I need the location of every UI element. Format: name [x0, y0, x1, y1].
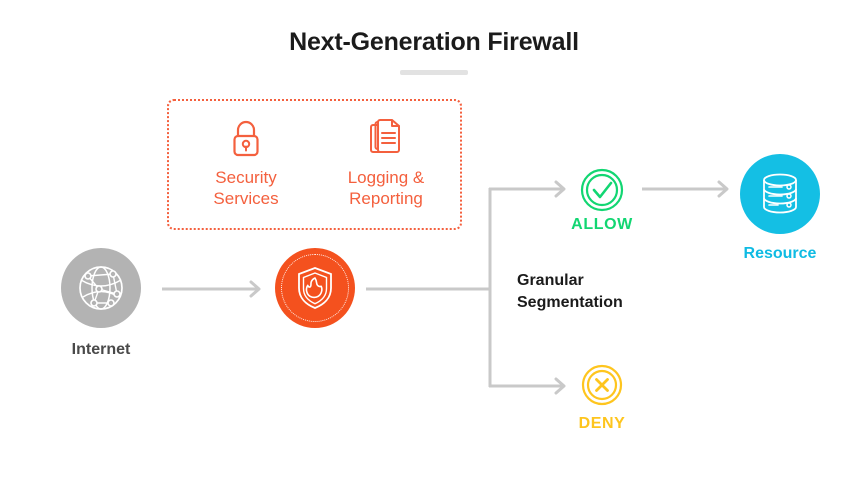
- node-internet[interactable]: [61, 248, 141, 328]
- document-stack-icon: [321, 117, 451, 161]
- service-item-security[interactable]: Security Services: [181, 117, 311, 209]
- node-label-internet: Internet: [21, 341, 181, 359]
- x-circle-icon[interactable]: [581, 364, 623, 406]
- check-circle-icon[interactable]: [580, 168, 624, 212]
- title-underline-rule: [400, 70, 468, 75]
- service-label-logging: Logging & Reporting: [321, 167, 451, 209]
- node-label-deny: DENY: [522, 415, 682, 433]
- granular-segmentation-caption: Granular Segmentation: [517, 270, 737, 314]
- node-resource[interactable]: [740, 154, 820, 234]
- page-title: Next-Generation Firewall: [0, 28, 868, 57]
- database-icon: [756, 170, 804, 218]
- diagram-canvas: Next-Generation Firewall: [0, 0, 868, 488]
- service-label-security: Security Services: [181, 167, 311, 209]
- service-item-logging[interactable]: Logging & Reporting: [321, 117, 451, 209]
- node-label-resource: Resource: [700, 245, 860, 263]
- globe-network-icon: [75, 262, 127, 314]
- shield-flame-icon: [294, 265, 336, 311]
- node-firewall[interactable]: [275, 248, 355, 328]
- security-services-panel: Security Services Logging & Reporting: [167, 99, 462, 230]
- node-label-allow: ALLOW: [522, 216, 682, 234]
- lock-icon: [181, 117, 311, 161]
